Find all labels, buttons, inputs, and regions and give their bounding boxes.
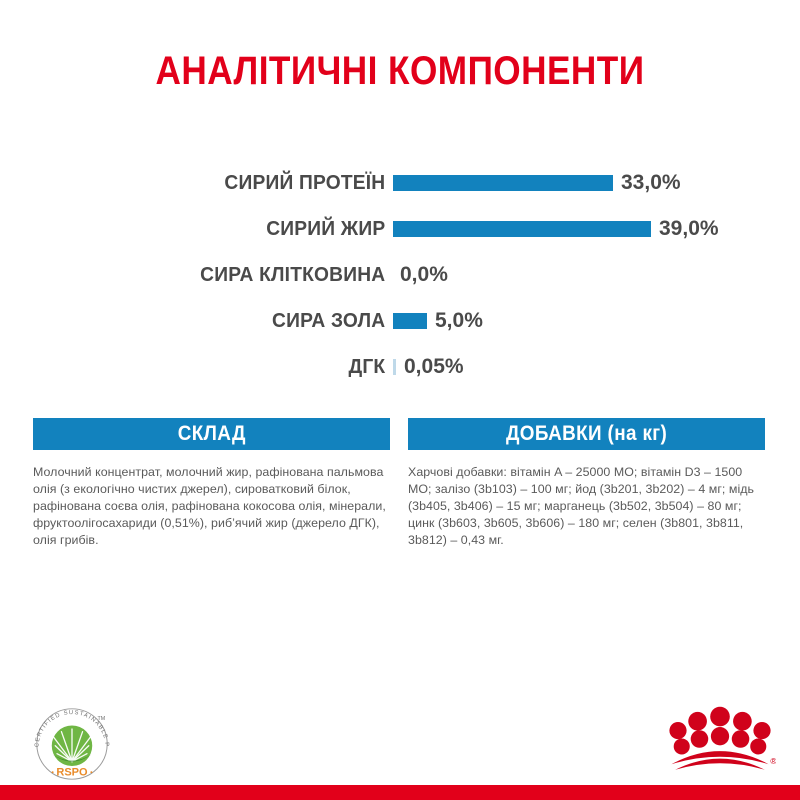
rspo-dot-right	[90, 771, 92, 773]
royal-canin-crown-logo: ®	[664, 702, 776, 776]
info-sections: СКЛАД Молочний концентрат, молочний жир,…	[33, 418, 770, 549]
rspo-wordmark: RSPO	[56, 767, 88, 779]
additives-body: Харчові добавки: вітамін A – 25000 МО; в…	[408, 464, 765, 549]
rspo-certification-logo: CERTIFIED SUSTAINABLE PALM OIL TM RSPO	[28, 700, 116, 788]
chart-row-bar-area: 0,05%	[393, 344, 800, 390]
chart-row-bar-area: 33,0%	[393, 160, 800, 206]
chart-row-value: 33,0%	[621, 171, 681, 195]
chart-row-label: СИРА ЗОЛА	[16, 310, 393, 333]
chart-row-value: 0,05%	[404, 355, 464, 379]
additives-heading: ДОБАВКИ (на кг)	[506, 422, 667, 446]
chart-row-value: 39,0%	[659, 217, 719, 241]
additives-section: ДОБАВКИ (на кг) Харчові добавки: вітамін…	[408, 418, 765, 549]
composition-section: СКЛАД Молочний концентрат, молочний жир,…	[33, 418, 390, 549]
chart-bar	[393, 359, 396, 375]
palm-fan-icon	[52, 726, 92, 766]
composition-heading-band: СКЛАД	[33, 418, 390, 450]
analytical-components-chart: СИРИЙ ПРОТЕЇН 33,0% СИРИЙ ЖИР 39,0% СИРА…	[0, 160, 800, 390]
chart-row-label: СИРИЙ ПРОТЕЇН	[16, 172, 393, 195]
rspo-trademark-icon: TM	[98, 716, 106, 722]
chart-row: СИРИЙ ПРОТЕЇН 33,0%	[0, 160, 800, 206]
registered-trademark-icon: ®	[770, 756, 776, 766]
chart-row-bar-area: 0,0%	[393, 252, 800, 298]
chart-row-label: СИРА КЛІТКОВИНА	[16, 264, 393, 287]
chart-row-label: ДГК	[16, 356, 393, 379]
chart-row: ДГК 0,05%	[0, 344, 800, 390]
chart-row: СИРА ЗОЛА 5,0%	[0, 298, 800, 344]
chart-row: СИРА КЛІТКОВИНА 0,0%	[0, 252, 800, 298]
chart-row: СИРИЙ ЖИР 39,0%	[0, 206, 800, 252]
crown-dots	[669, 707, 770, 755]
additives-heading-band: ДОБАВКИ (на кг)	[408, 418, 765, 450]
composition-body: Молочний концентрат, молочний жир, рафін…	[33, 464, 390, 549]
chart-row-value: 5,0%	[435, 309, 483, 333]
chart-row-bar-area: 5,0%	[393, 298, 800, 344]
chart-bar	[393, 175, 613, 191]
page-title: АНАЛІТИЧНІ КОМПОНЕНТИ	[48, 48, 752, 94]
chart-row-label: СИРИЙ ЖИР	[16, 218, 393, 241]
chart-row-bar-area: 39,0%	[393, 206, 800, 252]
crown-arc-lower	[675, 759, 765, 770]
rspo-dot-left	[52, 771, 54, 773]
chart-bar	[393, 313, 427, 329]
composition-heading: СКЛАД	[177, 422, 245, 446]
chart-row-value: 0,0%	[400, 263, 448, 287]
bottom-accent-bar	[0, 785, 800, 800]
chart-bar	[393, 221, 651, 237]
